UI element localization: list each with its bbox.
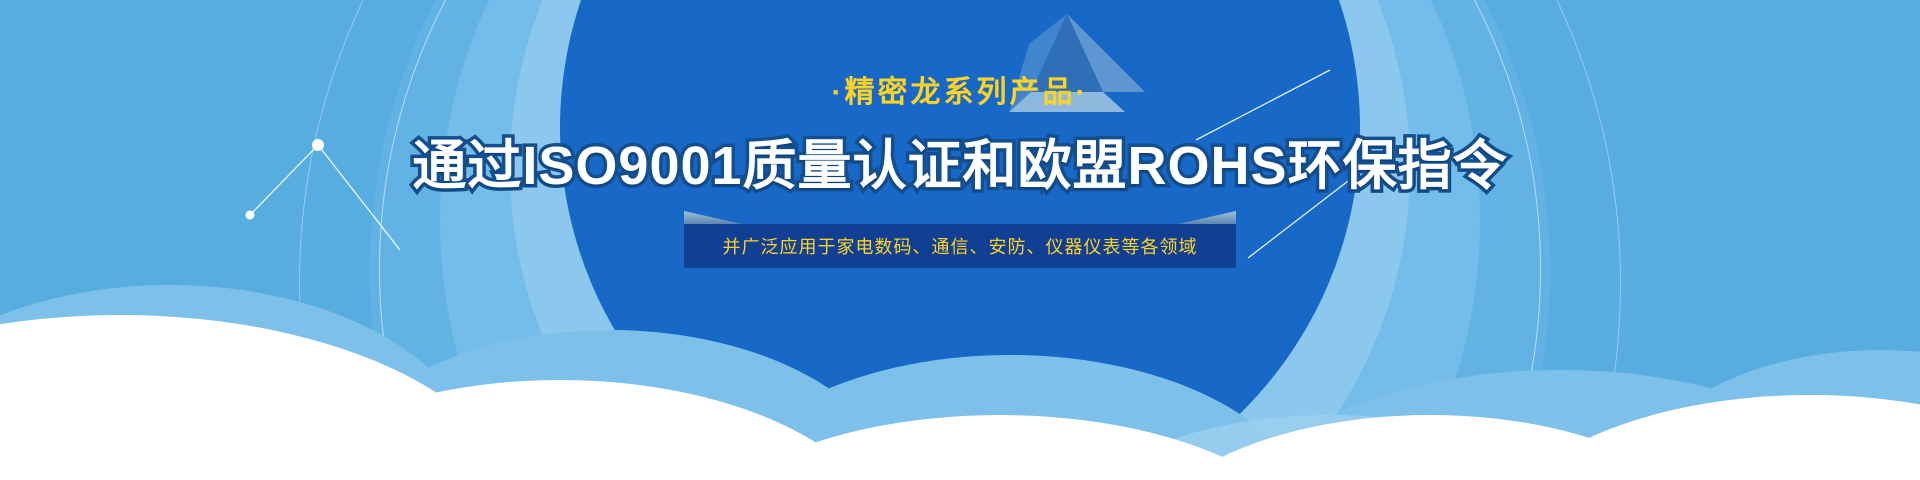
banner-eyebrow: ·精密龙系列产品· [0, 76, 1920, 110]
cloud-layers [0, 180, 1920, 480]
promo-banner: ·精密龙系列产品· 通过ISO9001质量认证和欧盟ROHS环保指令 并广泛应用… [0, 0, 1920, 480]
